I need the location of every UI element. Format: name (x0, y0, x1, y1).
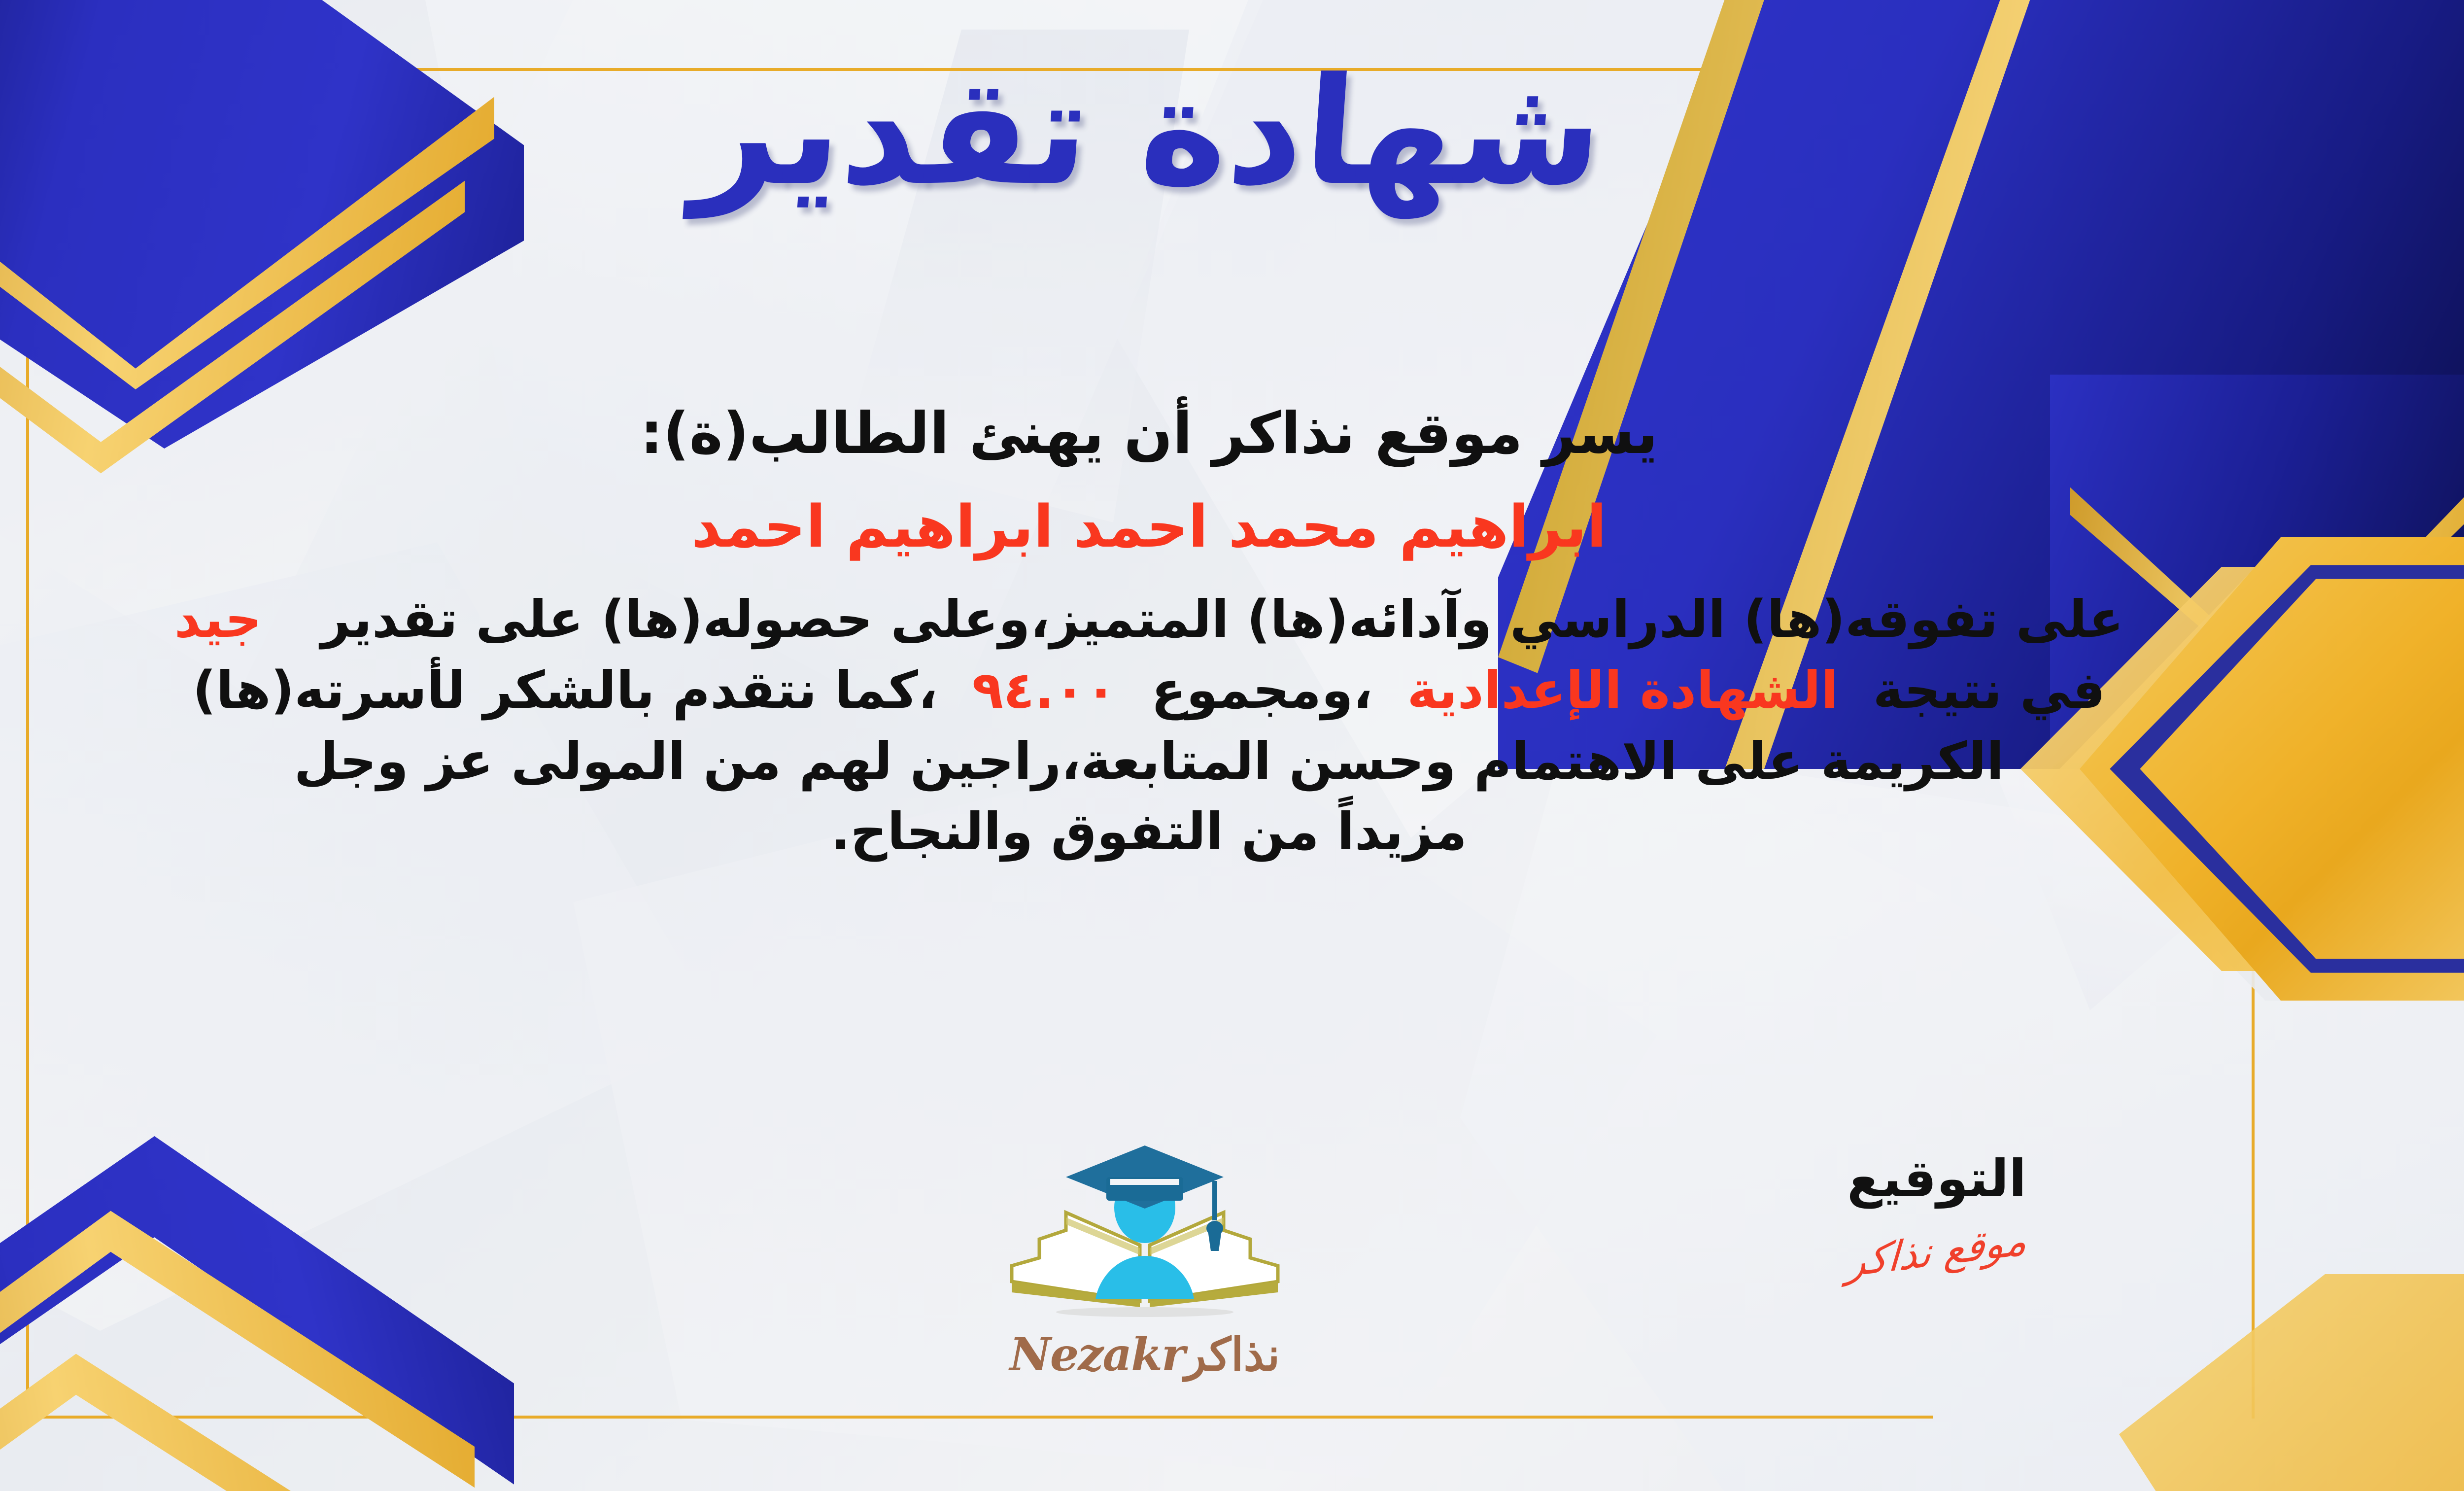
exam-prefix-text: في نتيجة (1873, 660, 2106, 720)
certificate-title-text: شهادة تقدير (689, 54, 1608, 209)
logo-latin-name: Nezakr (1010, 1328, 1185, 1381)
exam-result-line: في نتيجةالشهادة الإعدادية،ومجموع٩٤.٠٠،كم… (46, 655, 2252, 726)
closing-wish-line: مزيداً من التفوق والنجاح. (46, 797, 2252, 867)
logo-wordmark: نذاكرNezakr (972, 1328, 1317, 1381)
achievement-text: على تفوقه(ها) الدراسي وآدائه(ها) المتميز… (321, 589, 2123, 649)
achievement-line: على تفوقه(ها) الدراسي وآدائه(ها) المتميز… (46, 584, 2252, 655)
certificate-page: شهادة تقدير يسر موقع نذاكر أن يهنئ الطال… (0, 0, 2464, 1491)
total-score-value: ٩٤.٠٠ (972, 660, 1116, 720)
exam-name: الشهادة الإعدادية (1407, 660, 1838, 720)
certificate-body: يسر موقع نذاكر أن يهنئ الطالب(ة): ابراهي… (46, 394, 2252, 867)
intro-line: يسر موقع نذاكر أن يهنئ الطالب(ة): (46, 394, 2252, 473)
grade-value: جيد (174, 589, 262, 649)
logo-arabic-name: نذاكر (1184, 1328, 1280, 1381)
thanks-text: ،كما نتقدم بالشكر لأسرته(ها) (193, 660, 938, 720)
corner-ornament-bottom-right (2119, 1274, 2464, 1491)
signature-label: التوقيع (1784, 1148, 2089, 1209)
site-logo: نذاكرNezakr (972, 1134, 1317, 1410)
corner-ornament-bottom-left (0, 1136, 514, 1491)
page-title: شهادة تقدير (0, 54, 2464, 209)
signature-block: التوقيع موقع نذاكر (1784, 1148, 2089, 1275)
total-label-text: ،ومجموع (1151, 660, 1372, 720)
student-name: ابراهيم محمد احمد ابراهيم احمد (46, 489, 2252, 564)
graduate-book-icon (992, 1134, 1298, 1331)
family-thanks-line: الكريمة على الاهتمام وحسن المتابعة،راجين… (46, 726, 2252, 797)
gold-plate-shape (2119, 1274, 2464, 1491)
